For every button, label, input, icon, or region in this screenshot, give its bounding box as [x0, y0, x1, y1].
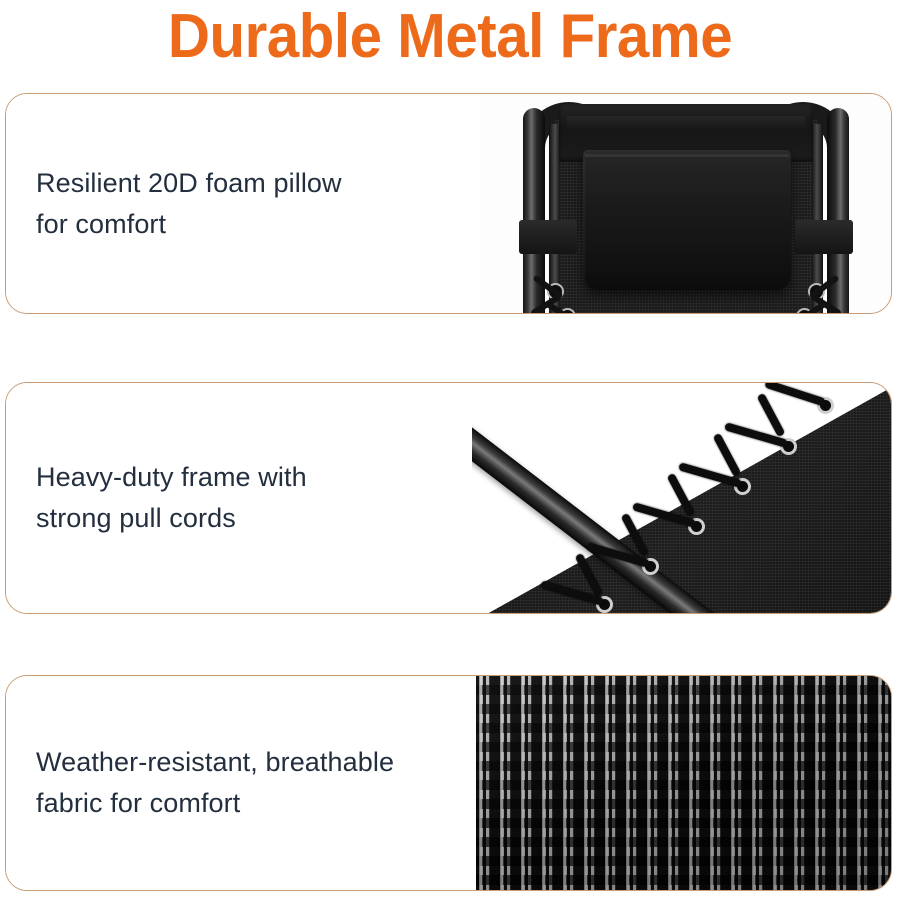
page-title: Durable Metal Frame — [27, 2, 873, 72]
feature-text-frame: Heavy-duty frame with strong pull cords — [6, 383, 472, 613]
feature-card-pillow: Resilient 20D foam pillow for comfort — [5, 93, 892, 314]
pull-cord — [764, 383, 825, 406]
feature-text-pillow: Resilient 20D foam pillow for comfort — [6, 94, 481, 313]
foam-pillow — [583, 150, 791, 290]
feature-text-line-1: Weather-resistant, breathable — [36, 742, 394, 783]
fabric-strap-left — [519, 220, 577, 254]
pull-cord — [757, 393, 786, 437]
feature-text-fabric: Weather-resistant, breathable fabric for… — [6, 676, 476, 890]
feature-text-line-1: Heavy-duty frame with — [36, 457, 307, 498]
feature-card-frame: Heavy-duty frame with strong pull cords — [5, 382, 892, 614]
fabric-shading — [476, 676, 891, 890]
pull-cord — [713, 433, 742, 477]
pillow-seam — [585, 154, 789, 157]
feature-text-line-2: fabric for comfort — [36, 783, 394, 824]
feature-photo-frame — [472, 383, 891, 613]
feature-text-line-2: for comfort — [36, 204, 342, 245]
feature-photo-pillow — [481, 94, 891, 313]
fabric-strap-right — [795, 220, 853, 254]
feature-text-line-1: Resilient 20D foam pillow — [36, 163, 342, 204]
feature-text-line-2: strong pull cords — [36, 498, 307, 539]
feature-photo-fabric — [476, 676, 891, 890]
feature-card-fabric: Weather-resistant, breathable fabric for… — [5, 675, 892, 891]
